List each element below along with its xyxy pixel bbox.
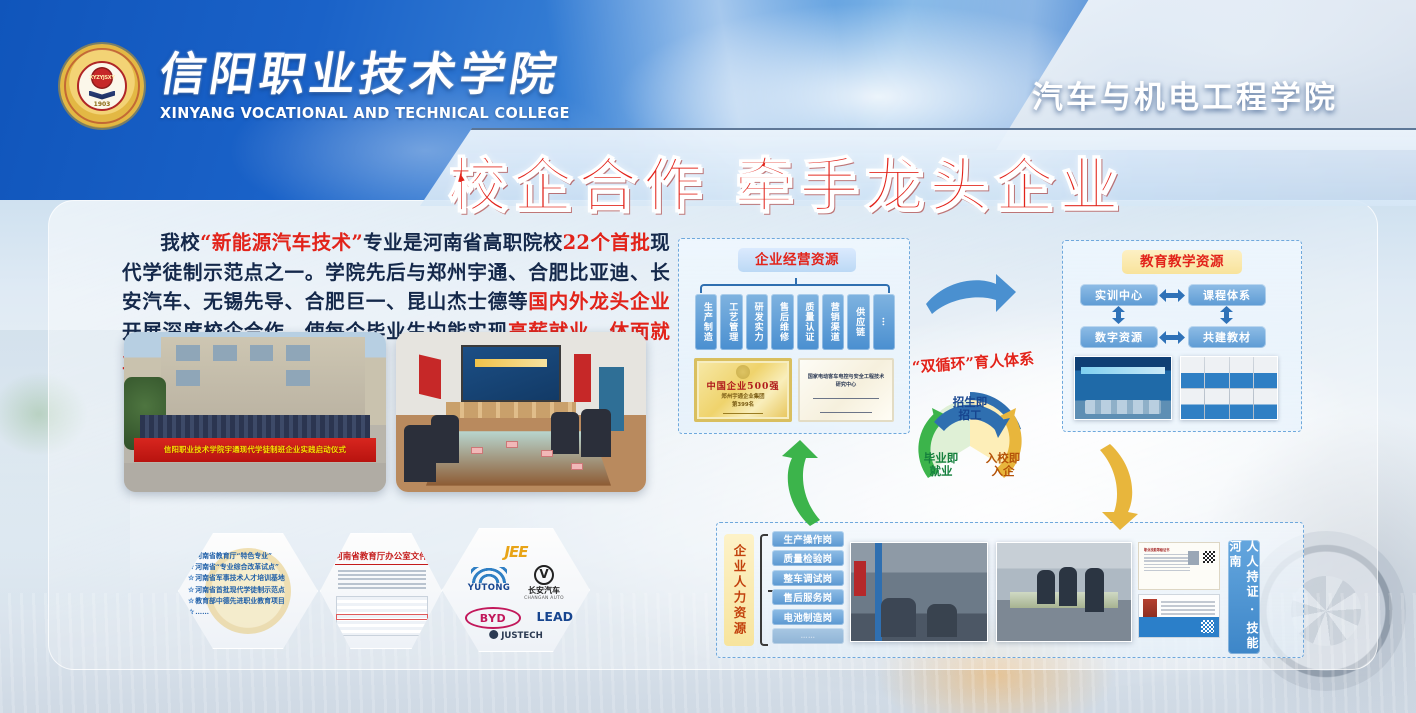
college-emblem-icon: XYZYJSXY 1903 (60, 44, 144, 128)
human-resources-title: 企业人力资源 (724, 534, 754, 646)
enterprise-column: 售后维修 (771, 294, 793, 350)
changan-logo: 长安汽车 CHANGAN AUTO (513, 565, 575, 601)
training-center-photo (1074, 356, 1172, 420)
intro-highlight-2: 22个首批 (563, 231, 651, 254)
education-node-textbooks: 共建教材 (1188, 326, 1266, 348)
document-highlight-row (336, 614, 428, 620)
enterprise-columns: 生产制造 工艺管理 研发实力 售后维修 质量认证 营销渠道 供应链 … (695, 294, 895, 350)
double-arrow-horizontal-icon (1159, 331, 1185, 344)
enterprise-brace (700, 284, 890, 293)
flow-arrow-up-icon (778, 440, 824, 530)
list-item: ☆河南省军事技术人才培训基地 (188, 573, 312, 584)
enterprise-column: 研发实力 (746, 294, 768, 350)
intro-highlight-1: “新能源汽车技术” (200, 231, 363, 254)
job-post-item: 售后服务岗 (772, 589, 844, 605)
intro-text-1: 我校 (160, 231, 200, 254)
intro-highlight-3: 国内外龙头企业 (528, 290, 670, 313)
jee-logo: JEE (504, 543, 527, 561)
honors-list: ☆河南省教育厅“特色专业” ☆河南省“专业综合改革试点” ☆河南省军事技术人才培… (188, 551, 312, 618)
human-resources-brace (760, 534, 768, 646)
flow-arrow-down-icon (1096, 440, 1142, 530)
yutong-logo: YUTONG (463, 567, 515, 593)
double-arrow-vertical-icon (1112, 306, 1125, 324)
college-branding: XYZYJSXY 1903 信阳职业技术学院 XINYANG VOCATIONA… (60, 44, 601, 128)
enterprise-column: 质量认证 (797, 294, 819, 350)
flow-arrow-right-icon (922, 272, 1018, 318)
research-center-certificate: 国家电动客车电控与安全工程技术研究中心 (798, 358, 894, 422)
double-arrow-horizontal-icon (1159, 289, 1185, 302)
enterprise-column: 供应链 (847, 294, 869, 350)
skill-henan-slogan: 人人持证 · 技能河南 (1228, 540, 1260, 654)
emblem-book-icon (89, 91, 115, 100)
certificate-seal-icon (736, 365, 750, 379)
certificate-column: 职业技能等级证书 (1138, 542, 1220, 638)
education-node-training-center: 实训中心 (1080, 284, 1158, 306)
enterprise-column: 生产制造 (695, 294, 717, 350)
job-post-list: 生产操作岗 质量检验岗 整车调试岗 售后服务岗 电池制造岗 …… (772, 531, 844, 647)
top500-certificate: 中国企业500强 郑州宇通企业集团 第399名 (694, 358, 792, 422)
list-item: ☆河南省教育厅“特色专业” (188, 551, 312, 562)
education-node-curriculum: 课程体系 (1188, 284, 1266, 306)
enterprise-column: 营销渠道 (822, 294, 844, 350)
list-item: ☆河南省“专业综合改革试点” (188, 562, 312, 573)
job-post-item: 电池制造岗 (772, 609, 844, 625)
document-title: 河南省教育厅办公室文件 (334, 550, 428, 562)
factory-photo-workshop (996, 542, 1132, 642)
lead-logo: LEAD (536, 609, 573, 624)
job-post-item: 整车调试岗 (772, 570, 844, 586)
list-item: ☆…… (188, 607, 312, 618)
education-node-digital-resources: 数字资源 (1080, 326, 1158, 348)
factory-photo-assembly (850, 542, 988, 642)
ceremony-banner-text: 信阳职业技术学院宇通现代学徒制班企业实践启动仪式 (134, 438, 375, 462)
list-item: ☆教育部中德先进职业教育项目 (188, 596, 312, 607)
cycle-segment-employment: 毕业即 就业 (912, 452, 970, 478)
justech-logo: JUSTECH (489, 630, 543, 641)
list-item: ☆河南省首批现代学徒制示范点 (188, 585, 312, 596)
page-header: XYZYJSXY 1903 信阳职业技术学院 XINYANG VOCATIONA… (0, 0, 1416, 150)
cycle-segment-enterprise: 入校即 入企 (974, 452, 1032, 478)
emblem-initials: XYZYJSXY (91, 67, 113, 89)
poster-canvas: XYZYJSXY 1903 信阳职业技术学院 XINYANG VOCATIONA… (0, 0, 1416, 713)
ceremony-photo: 信阳职业技术学院宇通现代学徒制班企业实践启动仪式 (124, 332, 386, 492)
skill-certificate-document: 职业技能等级证书 (1138, 542, 1220, 590)
double-arrow-vertical-icon (1220, 306, 1233, 324)
changan-mark-icon (534, 565, 554, 585)
emblem-year: 1903 (94, 101, 111, 108)
college-name-en: XINYANG VOCATIONAL AND TECHNICAL COLLEGE (160, 104, 570, 122)
yutong-mark-icon (471, 567, 507, 583)
department-name: 汽车与机电工程学院 (1032, 72, 1338, 117)
byd-logo: BYD (465, 607, 521, 629)
page-title: 校企合作 牵手龙头企业 (448, 138, 1125, 223)
enterprise-column: … (873, 294, 895, 350)
intro-text-2: 专业是河南省高职院校 (363, 231, 563, 254)
skill-certificate-card (1138, 594, 1220, 638)
job-post-item: …… (772, 628, 844, 644)
document-lines (338, 570, 426, 591)
textbooks-photo (1180, 356, 1278, 420)
enterprise-column: 工艺管理 (720, 294, 742, 350)
meeting-photo (396, 332, 646, 492)
enterprise-resources-title: 企业经营资源 (738, 248, 856, 272)
college-name-cn: 信阳职业技术学院 (156, 51, 604, 97)
job-post-item: 质量检验岗 (772, 550, 844, 566)
education-resources-title: 教育教学资源 (1122, 250, 1242, 274)
document-rule (335, 564, 429, 565)
job-post-item: 生产操作岗 (772, 531, 844, 547)
cycle-segment-recruit: 招生即 招工 (934, 396, 1006, 422)
